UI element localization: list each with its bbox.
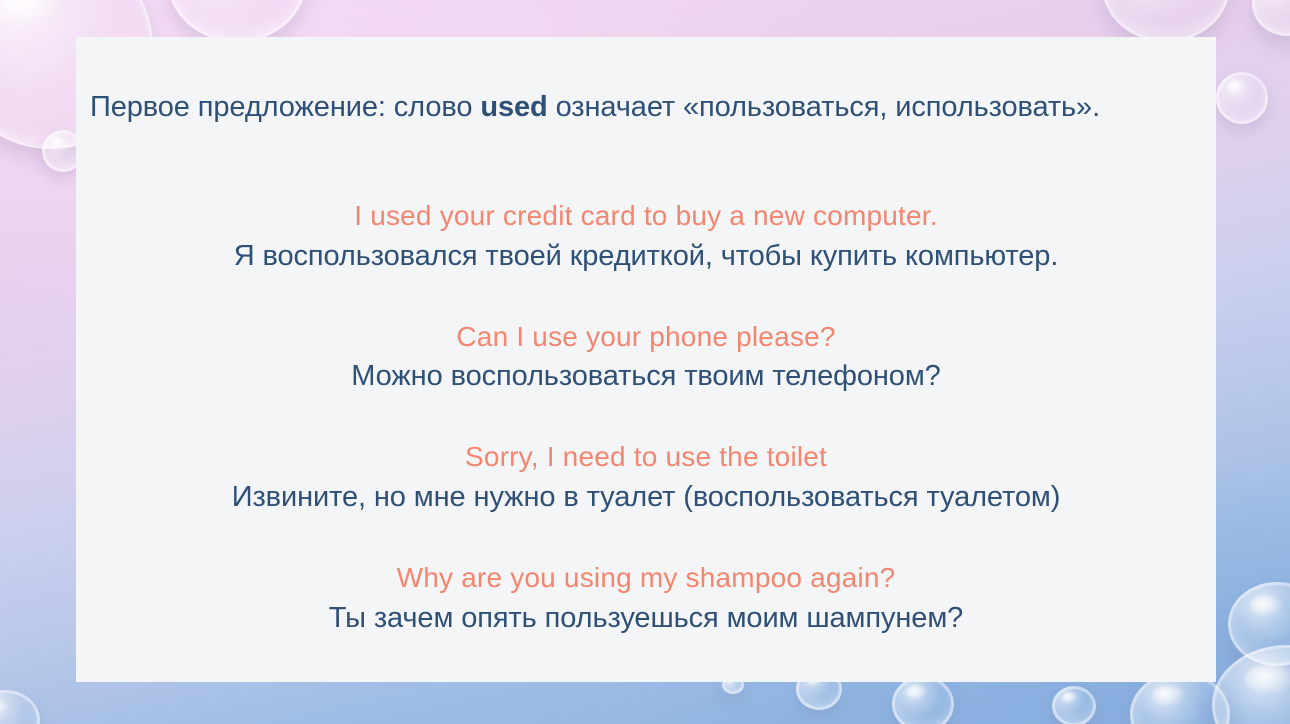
example-russian: Я воспользовался твоей кредиткой, чтобы … (76, 236, 1216, 276)
example-pair: I used your credit card to buy a new com… (76, 197, 1216, 276)
example-english: Why are you using my shampoo again? (76, 559, 1216, 598)
example-pair: Can I use your phone please? Можно воспо… (76, 318, 1216, 397)
intro-keyword: used (480, 91, 547, 123)
content-panel: Первое предложение: слово used означает … (76, 37, 1216, 682)
bubble-bottom-center-3 (1052, 686, 1096, 724)
example-english: Sorry, I need to use the toilet (76, 438, 1216, 477)
slide: Первое предложение: слово used означает … (0, 0, 1290, 724)
example-english: I used your credit card to buy a new com… (76, 197, 1216, 236)
example-pair: Why are you using my shampoo again? Ты з… (76, 559, 1216, 638)
bubble-top-right-small (1216, 72, 1268, 124)
example-english: Can I use your phone please? (76, 318, 1216, 357)
example-pairs-list: I used your credit card to buy a new com… (76, 197, 1216, 638)
intro-prefix: Первое предложение: слово (90, 91, 480, 123)
bubble-bottom-center-2 (892, 676, 954, 724)
example-pair: Sorry, I need to use the toilet Извините… (76, 438, 1216, 517)
example-russian: Ты зачем опять пользуешься моим шампунем… (76, 598, 1216, 638)
example-russian: Можно воспользоваться твоим телефоном? (76, 356, 1216, 396)
intro-suffix: означает «пользоваться, использовать». (548, 91, 1100, 123)
example-russian: Извините, но мне нужно в туалет (восполь… (76, 477, 1216, 517)
intro-sentence: Первое предложение: слово used означает … (90, 89, 1202, 125)
